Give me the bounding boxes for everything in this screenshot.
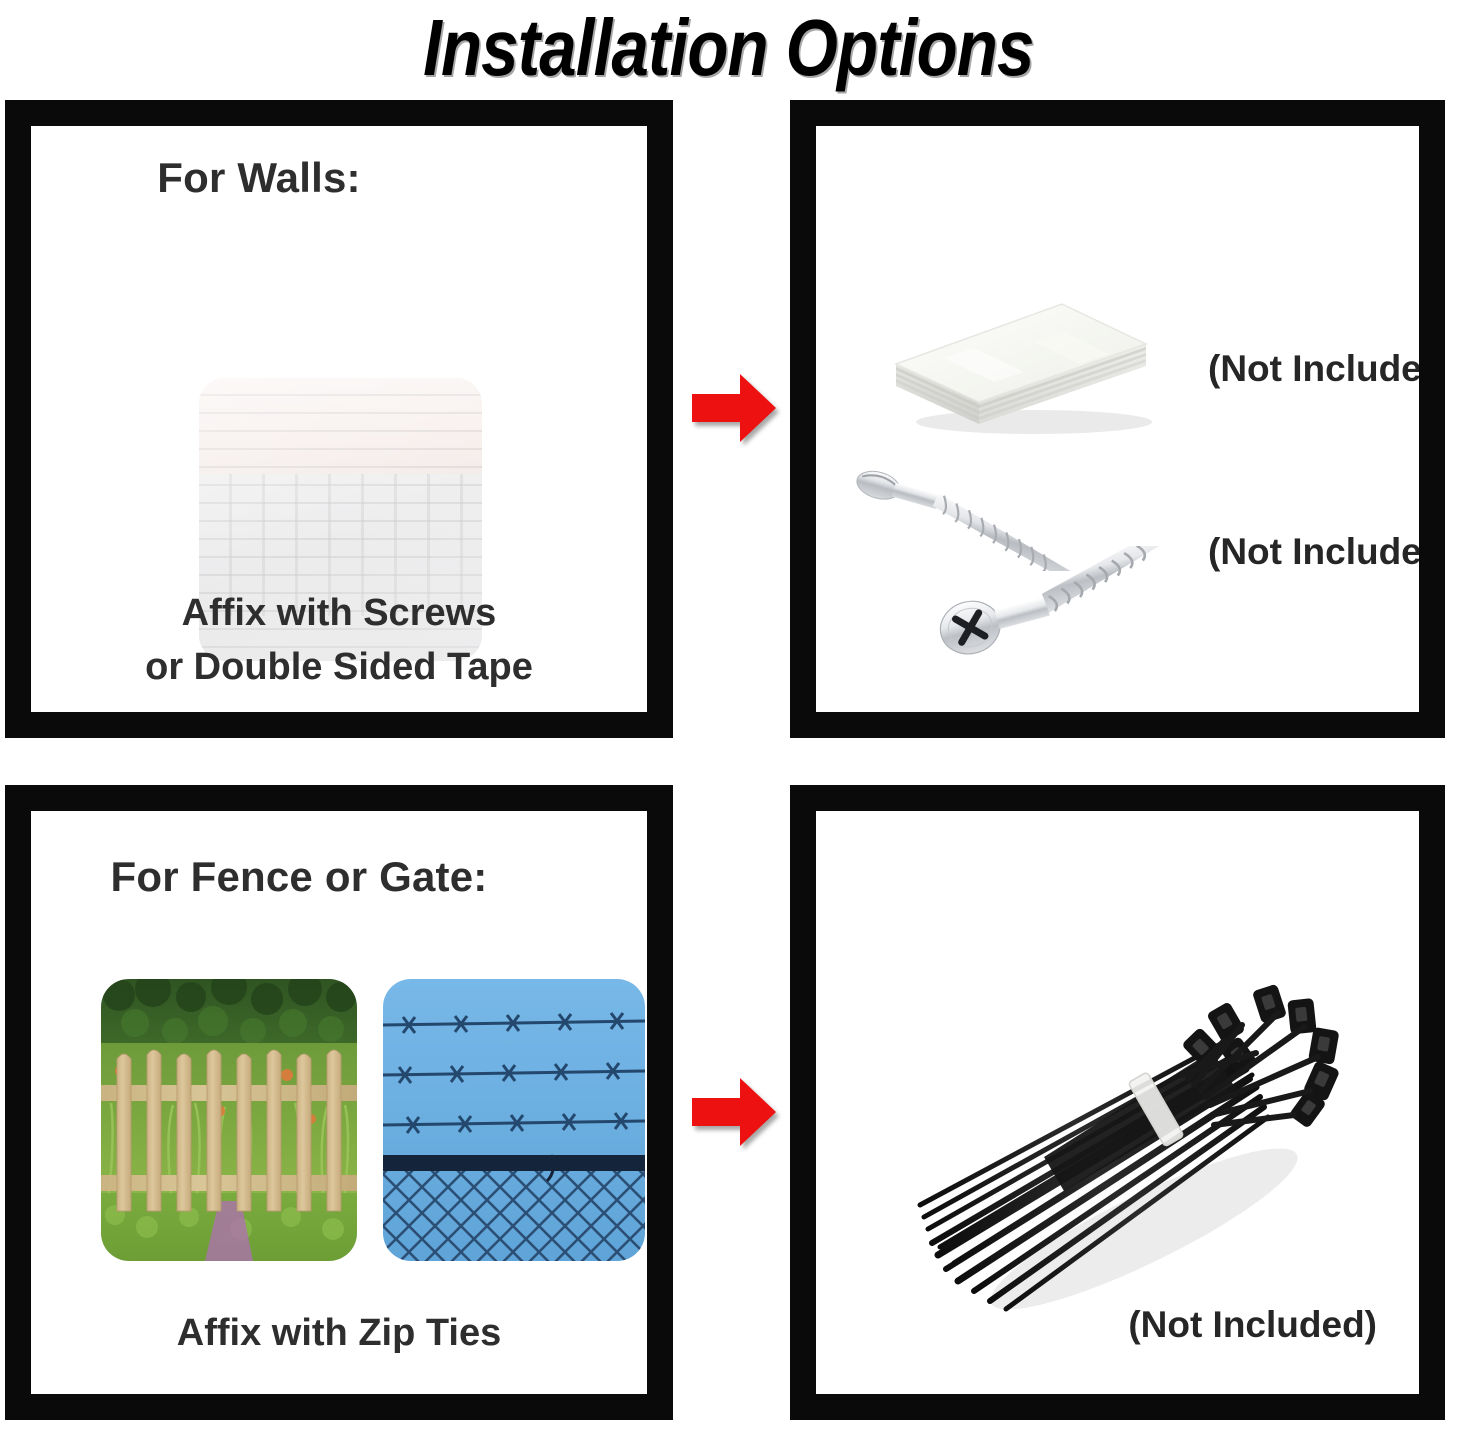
panel-for-walls: For Walls: Affix with Screws or Double S… — [5, 100, 673, 738]
page-title-bar: Installation Options — [0, 0, 1457, 96]
panel-for-walls-content: For Walls: Affix with Screws or Double S… — [31, 126, 647, 712]
red-right-arrow-icon — [688, 368, 780, 448]
panel-fence-hardware-content: (Not Included) — [816, 811, 1419, 1394]
caption-for-fence: Affix with Zip Ties — [31, 1306, 647, 1360]
caption-for-walls: Affix with Screws or Double Sided Tape — [31, 586, 647, 694]
zip-ties-svg — [894, 929, 1354, 1329]
wooden-picket-fence-photo — [101, 979, 357, 1261]
black-zip-ties-bundle-image — [894, 929, 1354, 1329]
caption-line-1: Affix with Screws — [31, 586, 647, 640]
panel-wall-hardware: (Not Included) — [790, 100, 1445, 738]
panel-for-fence-or-gate: For Fence or Gate: — [5, 785, 673, 1420]
zipties-not-included-label: (Not Included) — [1128, 1304, 1377, 1346]
wood-screw-lower-image — [926, 546, 1216, 666]
panel-fence-hardware: (Not Included) — [790, 785, 1445, 1420]
panel-wall-hardware-content: (Not Included) — [816, 126, 1419, 712]
page-title: Installation Options — [423, 5, 1033, 91]
red-right-arrow-icon — [688, 1072, 780, 1152]
chain-link-barbed-wire-photo — [383, 979, 645, 1261]
heading-for-fence-or-gate: For Fence or Gate: — [31, 853, 647, 901]
double-sided-tape-stack-image — [874, 246, 1174, 441]
screws-not-included-label: (Not Included) — [1208, 531, 1419, 573]
picket-fence-svg — [101, 979, 357, 1261]
screw-lower-svg — [926, 546, 1216, 666]
caption-line-2: or Double Sided Tape — [31, 640, 647, 694]
tape-not-included-label: (Not Included) — [1208, 348, 1419, 390]
panel-for-fence-content: For Fence or Gate: — [31, 811, 647, 1394]
chain-link-svg — [383, 979, 645, 1261]
heading-for-walls: For Walls: — [31, 154, 647, 202]
caption-line-1: Affix with Zip Ties — [31, 1306, 647, 1360]
tape-stack-svg — [874, 246, 1174, 441]
